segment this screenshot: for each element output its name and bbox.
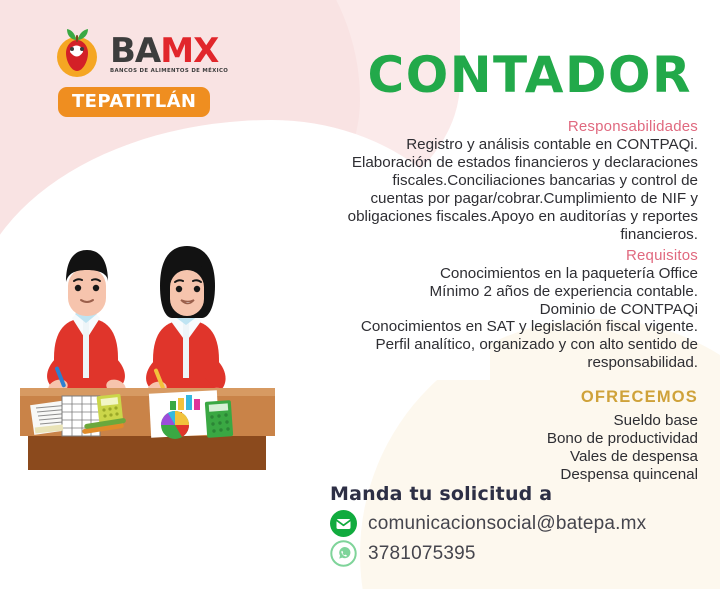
text-line: Vales de despensa: [268, 448, 698, 466]
text-line: Bono de productividad: [268, 430, 698, 448]
woman-figure: [145, 246, 232, 407]
text-line: financieros.: [268, 226, 698, 244]
logo-row: BAMX BANCOS DE ALIMENTOS DE MÉXICO: [52, 26, 232, 80]
contact-email[interactable]: comunicacionsocial@batepa.mx: [368, 513, 646, 535]
whatsapp-icon: [330, 540, 357, 567]
two-accountants-at-desk-illustration: [10, 190, 285, 470]
contact-heading: Manda tu solicitud a: [330, 483, 710, 505]
section-responsabilidades: Responsabilidades Registro y análisis co…: [268, 118, 698, 244]
text-line: Perfil analítico, organizado y con alto …: [268, 336, 698, 354]
brand-logo: BAMX BANCOS DE ALIMENTOS DE MÉXICO TEPAT…: [52, 26, 232, 117]
contact-phone[interactable]: 3781075395: [368, 543, 476, 565]
section-ofrecemos: OFRECEMOS Sueldo base Bono de productivi…: [268, 388, 698, 484]
text-line: Sueldo base: [268, 412, 698, 430]
text-line: Dominio de CONTPAQi: [268, 301, 698, 319]
section-body-ofrecemos: Sueldo base Bono de productividad Vales …: [268, 412, 698, 484]
text-line: cuentas por pagar/cobrar.Cumplimiento de…: [268, 190, 698, 208]
text-line: Despensa quincenal: [268, 466, 698, 484]
section-heading-responsabilidades: Responsabilidades: [268, 118, 698, 135]
contact-block: Manda tu solicitud a comunicacionsocial@…: [330, 483, 710, 567]
section-heading-requisitos: Requisitos: [268, 247, 698, 264]
text-line: fiscales.Conciliaciones bancarias y cont…: [268, 172, 698, 190]
job-details: Responsabilidades Registro y análisis co…: [268, 118, 698, 484]
section-heading-ofrecemos: OFRECEMOS: [268, 388, 698, 407]
logo-wordmark: BAMX BANCOS DE ALIMENTOS DE MÉXICO: [110, 32, 228, 74]
location-badge-label: TEPATITLÁN: [72, 91, 196, 112]
text-line: Elaboración de estados financieros y dec…: [268, 154, 698, 172]
job-posting-poster: BAMX BANCOS DE ALIMENTOS DE MÉXICO TEPAT…: [0, 0, 720, 589]
section-body-responsabilidades: Registro y análisis contable en CONTPAQi…: [268, 136, 698, 244]
location-badge: TEPATITLÁN: [58, 87, 210, 117]
pie-chart-on-paper: [161, 411, 189, 439]
apple-logo-icon: [52, 26, 106, 80]
contact-row-email[interactable]: comunicacionsocial@batepa.mx: [330, 510, 710, 537]
contact-row-whatsapp[interactable]: 3781075395: [330, 540, 710, 567]
text-line: obligaciones fiscales.Apoyo en auditoría…: [268, 208, 698, 226]
man-figure: [46, 250, 128, 397]
logo-tagline: BANCOS DE ALIMENTOS DE MÉXICO: [110, 68, 228, 74]
text-line: responsabilidad.: [268, 354, 698, 372]
logo-ba-text: BA: [110, 31, 160, 71]
page-title: CONTADOR: [368, 46, 692, 104]
text-line: Registro y análisis contable en CONTPAQi…: [268, 136, 698, 154]
email-envelope-icon: [330, 510, 357, 537]
logo-mx-text: MX: [160, 31, 218, 71]
section-body-requisitos: Conocimientos en la paquetería Office Mí…: [268, 265, 698, 373]
text-line: Mínimo 2 años de experiencia contable.: [268, 283, 698, 301]
logo-bamx-text: BAMX: [110, 36, 228, 67]
section-requisitos: Requisitos Conocimientos en la paqueterí…: [268, 247, 698, 373]
text-line: Conocimientos en SAT y legislación fisca…: [268, 318, 698, 336]
text-line: Conocimientos en la paquetería Office: [268, 265, 698, 283]
